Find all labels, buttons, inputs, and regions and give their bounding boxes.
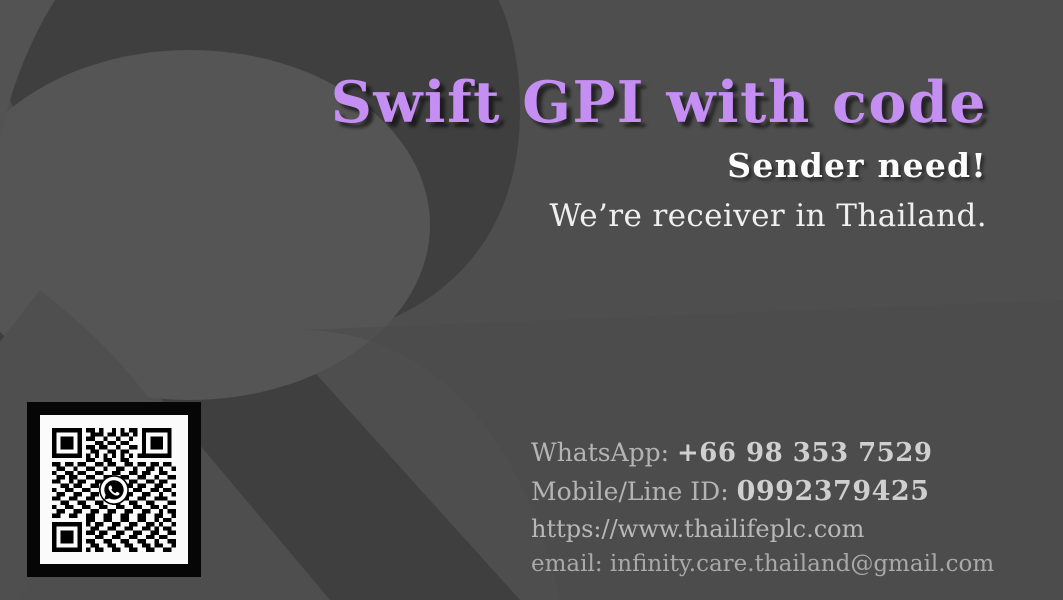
website-url[interactable]: https://www.thailifeplc.com <box>531 515 864 543</box>
subtitle: Sender need! <box>0 149 987 182</box>
page-title: Swift GPI with code <box>0 74 987 131</box>
whatsapp-number[interactable]: +66 98 353 7529 <box>677 438 932 468</box>
business-card: Swift GPI with code Sender need! We’re r… <box>0 0 1063 600</box>
mobile-line-id-label: Mobile/Line ID: <box>531 477 729 506</box>
contact-mobile-line-id[interactable]: Mobile/Line ID: 0992379425 <box>531 478 1001 505</box>
contact-website[interactable]: https://www.thailifeplc.com <box>531 517 1001 541</box>
mobile-line-id-number[interactable]: 0992379425 <box>737 476 930 507</box>
whatsapp-label: WhatsApp: <box>531 438 669 467</box>
email-label: email: <box>531 551 603 577</box>
headline-block: Swift GPI with code Sender need! We’re r… <box>0 0 1025 232</box>
whatsapp-icon <box>99 475 129 505</box>
contact-whatsapp[interactable]: WhatsApp: +66 98 353 7529 <box>531 440 1001 466</box>
contact-block: WhatsApp: +66 98 353 7529 Mobile/Line ID… <box>531 440 1001 576</box>
qr-code[interactable] <box>27 402 201 577</box>
qr-code-panel[interactable] <box>40 415 188 564</box>
tagline: We’re receiver in Thailand. <box>0 201 987 232</box>
contact-email[interactable]: email: infinity.care.thailand@gmail.com <box>531 553 1001 576</box>
email-address[interactable]: infinity.care.thailand@gmail.com <box>610 551 994 577</box>
